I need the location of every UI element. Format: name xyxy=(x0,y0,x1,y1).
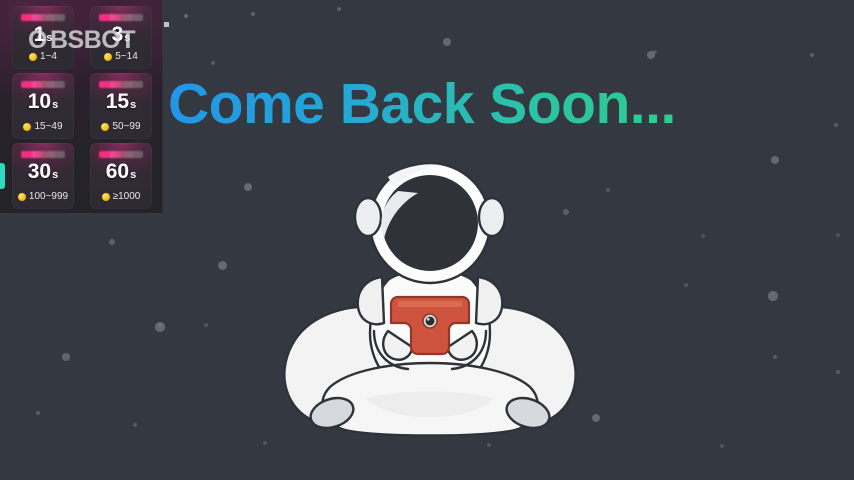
star-dot xyxy=(133,423,138,428)
gift-duration-unit: s xyxy=(46,32,52,44)
star-dot xyxy=(204,323,208,327)
gift-duration-unit: s xyxy=(52,99,58,111)
star-dot xyxy=(653,50,657,54)
star-dot xyxy=(592,414,601,423)
gift-duration-unit: s xyxy=(130,99,136,111)
gift-duration-value: 3 xyxy=(112,23,124,46)
gift-range: 1~4 xyxy=(12,51,74,63)
gift-duration-value: 60 xyxy=(106,160,129,183)
gift-card[interactable]: 60s ≥1000 xyxy=(90,143,152,209)
gift-card[interactable]: 30s 100~999 xyxy=(12,143,74,209)
star-dot xyxy=(773,355,777,359)
gift-duration: 3s xyxy=(90,23,152,50)
gift-card[interactable]: 15s 50~99 xyxy=(90,73,152,139)
star-dot xyxy=(720,444,724,448)
star-dot xyxy=(701,234,705,238)
gift-tier-badge xyxy=(99,14,143,21)
gift-duration-value: 15 xyxy=(106,90,129,113)
gift-range-label: 15~49 xyxy=(34,121,62,133)
gift-duration-unit: s xyxy=(130,169,136,181)
gift-range-label: ≥1000 xyxy=(113,191,141,203)
gift-tier-badge xyxy=(21,14,65,21)
star-dot xyxy=(218,261,227,270)
star-dot xyxy=(263,441,267,445)
coin-icon xyxy=(101,123,109,131)
gift-duration-value: 1 xyxy=(34,23,46,46)
star-dot xyxy=(771,156,780,165)
star-dot xyxy=(810,53,814,57)
coin-icon xyxy=(102,193,110,201)
gift-duration-unit: s xyxy=(52,169,58,181)
star-dot xyxy=(443,38,451,46)
star-dot xyxy=(211,61,215,65)
gift-tier-badge xyxy=(21,81,65,88)
star-dot xyxy=(768,291,777,300)
gift-duration-value: 10 xyxy=(28,90,51,113)
gift-card[interactable]: 1s 1~4 xyxy=(12,6,74,69)
gift-range: 5~14 xyxy=(90,51,152,63)
gift-tier-badge xyxy=(21,151,65,158)
gift-range: 100~999 xyxy=(12,191,74,203)
gift-range-label: 1~4 xyxy=(40,51,57,63)
star-dot xyxy=(158,323,162,327)
star-dot xyxy=(62,353,71,362)
gift-range: 15~49 xyxy=(12,121,74,133)
gift-range: ≥1000 xyxy=(90,191,152,203)
astronaut-illustration xyxy=(270,155,590,445)
star-dot xyxy=(184,14,188,18)
gift-duration-unit: s xyxy=(124,32,130,44)
star-dot xyxy=(36,411,40,415)
star-dot xyxy=(606,188,610,192)
gift-tier-badge xyxy=(99,151,143,158)
gift-duration-value: 30 xyxy=(28,160,51,183)
coin-icon xyxy=(18,193,26,201)
video-frame: Come Back Soon... 1s 1~4 3s 5~14 xyxy=(0,0,854,480)
gift-range: 50~99 xyxy=(90,121,152,133)
gift-duration: 30s xyxy=(12,160,74,187)
gift-card[interactable]: 3s 5~14 xyxy=(90,6,152,69)
coin-icon xyxy=(29,53,37,61)
star-dot xyxy=(836,233,840,237)
star-dot xyxy=(684,283,688,287)
gift-tier-badge xyxy=(99,81,143,88)
gift-range-label: 5~14 xyxy=(115,51,138,63)
coin-icon xyxy=(23,123,31,131)
star-dot xyxy=(834,123,838,127)
gift-duration: 1s xyxy=(12,23,74,50)
star-dot xyxy=(244,183,253,192)
gift-duration: 10s xyxy=(12,90,74,117)
star-dot xyxy=(251,12,256,17)
gift-duration: 15s xyxy=(90,90,152,117)
gift-duration-panel: 1s 1~4 3s 5~14 10s 15~49 xyxy=(0,0,163,213)
gift-duration: 60s xyxy=(90,160,152,187)
gift-card[interactable]: 10s 15~49 xyxy=(12,73,74,139)
panel-edge-marker xyxy=(164,22,169,27)
gift-range-label: 50~99 xyxy=(112,121,140,133)
gift-range-label: 100~999 xyxy=(29,191,68,203)
gift-card-grid: 1s 1~4 3s 5~14 10s 15~49 xyxy=(12,6,152,209)
star-dot xyxy=(337,7,341,11)
star-dot xyxy=(836,370,840,374)
coin-icon xyxy=(104,53,112,61)
page-title: Come Back Soon... xyxy=(168,70,676,138)
left-edge-accent xyxy=(0,163,5,189)
star-dot xyxy=(109,239,115,245)
